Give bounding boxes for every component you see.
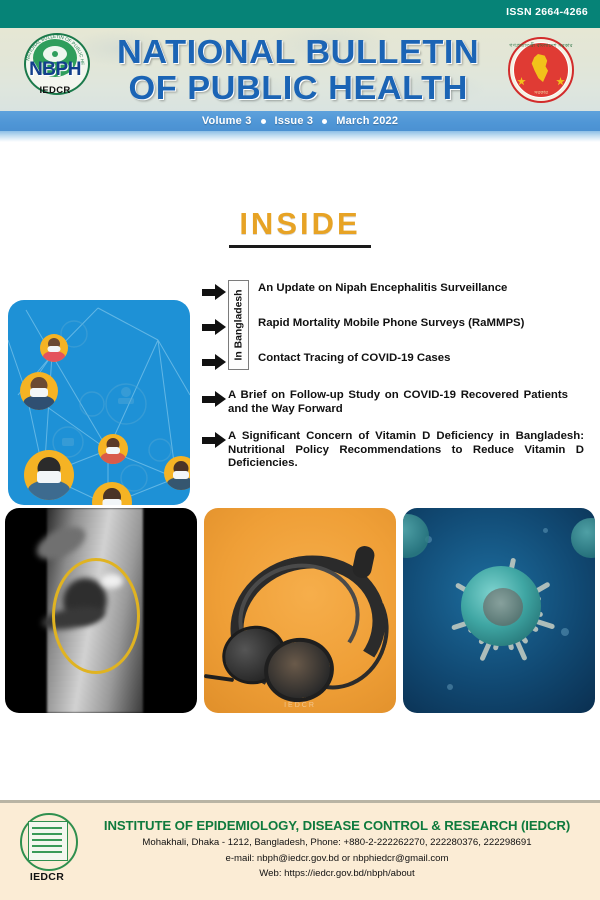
iedcr-logo-bar: [32, 845, 62, 847]
footer: IEDCR INSTITUTE OF EPIDEMIOLOGY, DISEASE…: [0, 803, 600, 900]
separator-dot-icon-2: [322, 119, 327, 124]
nbph-logo-acronym: NBPH: [20, 59, 90, 81]
footer-contact-block: INSTITUTE OF EPIDEMIOLOGY, DISEASE CONTR…: [88, 817, 586, 881]
footer-address: Mohakhali, Dhaka - 1212, Bangladesh, Pho…: [88, 836, 586, 850]
network-node-avatar: [98, 434, 128, 464]
footer-web[interactable]: Web: https://iedcr.gov.bd/nbph/about: [88, 867, 586, 881]
table-of-contents: An Update on Nipah Encephalitis Surveill…: [202, 282, 594, 480]
volume-issue-bar: Volume 3 Issue 3 March 2022: [0, 111, 600, 131]
virus-background-particle: [403, 514, 429, 558]
arrow-right-icon: [202, 318, 228, 336]
masthead-title: NATIONAL BULLETIN OF PUBLIC HEALTH: [96, 28, 500, 111]
iedcr-logo-bar: [32, 839, 62, 841]
virus-bokeh: [561, 628, 569, 636]
virus-bokeh: [543, 528, 548, 533]
iedcr-logo-label: IEDCR: [14, 871, 80, 883]
arrow-right-icon: [202, 390, 228, 408]
volume-bar-fade: [0, 131, 600, 142]
virus-photo: [403, 508, 595, 713]
separator-dot-icon: [261, 119, 266, 124]
virus-core-center: [483, 588, 523, 626]
toc-item[interactable]: Rapid Mortality Mobile Phone Surveys (Ra…: [202, 317, 594, 336]
arrow-right-icon: [202, 283, 228, 301]
volume-label: Volume 3: [202, 115, 252, 127]
toc-item[interactable]: A Significant Concern of Vitamin D Defic…: [202, 430, 594, 471]
arrow-right-icon: [202, 353, 228, 371]
toc-item-label: An Update on Nipah Encephalitis Surveill…: [258, 282, 507, 296]
iedcr-logo-bar: [32, 833, 62, 835]
government-emblem: গণপ্রজাতন্ত্রী বাংলাদেশ সরকার সরকার: [508, 37, 574, 103]
toc-item-label: Contact Tracing of COVID-19 Cases: [258, 352, 450, 366]
inside-heading: INSIDE: [229, 206, 370, 248]
arrow-right-icon: [202, 431, 228, 449]
virus-bokeh: [447, 684, 453, 690]
virus-background-particle: [571, 518, 595, 558]
title-line-1: NATIONAL BULLETIN: [117, 34, 479, 70]
title-line-2: OF PUBLIC HEALTH: [128, 70, 467, 106]
iedcr-footer-logo: IEDCR: [14, 813, 80, 889]
headset-microphone-icon: [351, 544, 376, 579]
toc-item-label: A Significant Concern of Vitamin D Defic…: [228, 430, 584, 471]
inside-heading-wrap: INSIDE: [0, 206, 600, 248]
iedcr-logo-bar: [32, 827, 62, 829]
headset-photo: IEDCR: [204, 508, 396, 713]
photo-strip: IEDCR: [5, 508, 595, 713]
network-node-avatar: [40, 334, 68, 362]
iedcr-logo-bar: [32, 851, 62, 853]
toc-item-label: A Brief on Follow-up Study on COVID-19 R…: [228, 389, 568, 416]
xray-photo: [5, 508, 197, 713]
toc-item[interactable]: A Brief on Follow-up Study on COVID-19 R…: [202, 389, 594, 416]
emblem-bottom-text: সরকার: [508, 90, 574, 98]
network-node-avatar: [24, 450, 74, 500]
emblem-top-text: গণপ্রজাতন্ত্রী বাংলাদেশ সরকার: [508, 43, 574, 51]
nbph-logo-subtitle: IEDCR: [20, 85, 90, 96]
xray-highlight-ellipse: [52, 558, 140, 674]
network-node-avatar: [20, 372, 58, 410]
toc-item-label: Rapid Mortality Mobile Phone Surveys (Ra…: [258, 317, 524, 331]
network-node-avatar: [164, 456, 190, 490]
issn-text: ISSN 2664-4266: [506, 6, 588, 18]
toc-item[interactable]: Contact Tracing of COVID-19 Cases: [202, 352, 594, 371]
toc-item[interactable]: An Update on Nipah Encephalitis Surveill…: [202, 282, 594, 301]
contact-network-illustration: [8, 300, 190, 505]
nbph-logo: NATIONAL BULLETIN OF PUBLIC HEALTH NBPH …: [20, 33, 90, 105]
issue-label: Issue 3: [275, 115, 314, 127]
headset-watermark: IEDCR: [204, 702, 396, 709]
footer-organization: INSTITUTE OF EPIDEMIOLOGY, DISEASE CONTR…: [88, 817, 586, 834]
footer-email[interactable]: e-mail: nbph@iedcr.gov.bd or nbphiedcr@g…: [88, 852, 586, 866]
date-label: March 2022: [336, 115, 398, 127]
